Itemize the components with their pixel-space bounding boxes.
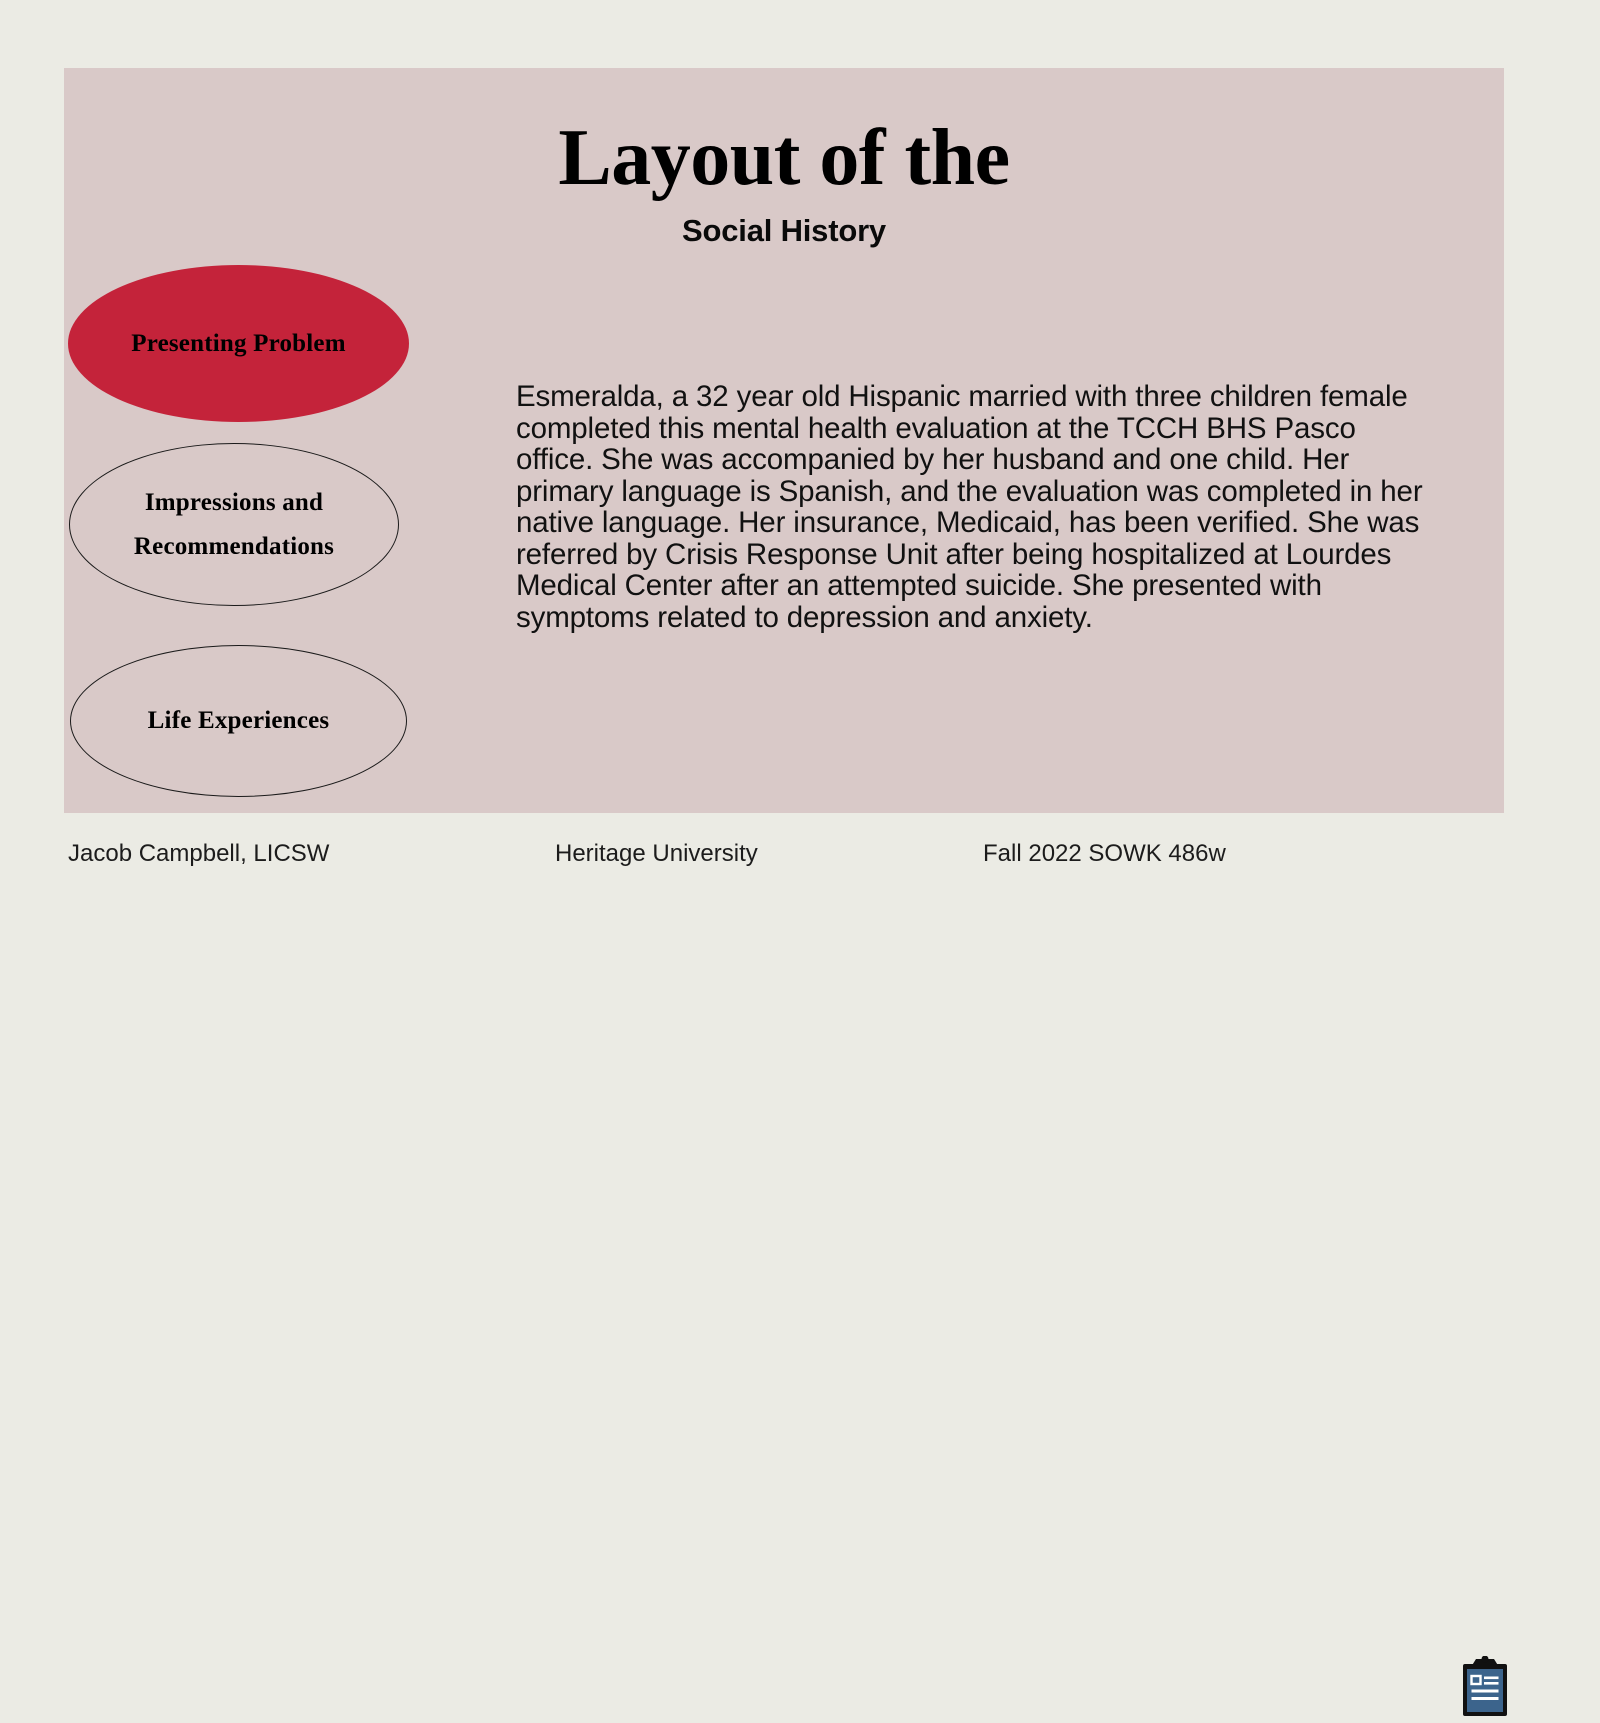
slide-panel: Layout of the Social History Presenting … [64,68,1504,813]
footer-course: Fall 2022 SOWK 486w [983,840,1226,868]
diagram-ellipse-life-experiences[interactable]: Life Experiences [70,645,407,797]
clipboard-icon[interactable] [1458,1656,1512,1718]
page-subtitle: Social History [64,214,1504,248]
diagram-ellipse-label: Impressions and Recommendations [120,481,348,569]
title-block: Layout of the Social History [64,120,1504,248]
footer-organization: Heritage University [555,840,758,868]
slide-footer: Jacob Campbell, LICSW Heritage Universit… [0,836,1600,882]
diagram-ellipse-presenting-problem[interactable]: Presenting Problem [68,265,409,422]
page-title: Layout of the [64,120,1504,196]
diagram-ellipse-impressions-recommendations[interactable]: Impressions and Recommendations [69,443,399,606]
body-paragraph: Esmeralda, a 32 year old Hispanic marrie… [516,381,1428,633]
slide-root: Layout of the Social History Presenting … [0,0,1600,900]
diagram-ellipse-label: Life Experiences [134,699,344,743]
footer-author: Jacob Campbell, LICSW [68,840,329,868]
diagram-ellipse-label: Presenting Problem [117,322,359,366]
